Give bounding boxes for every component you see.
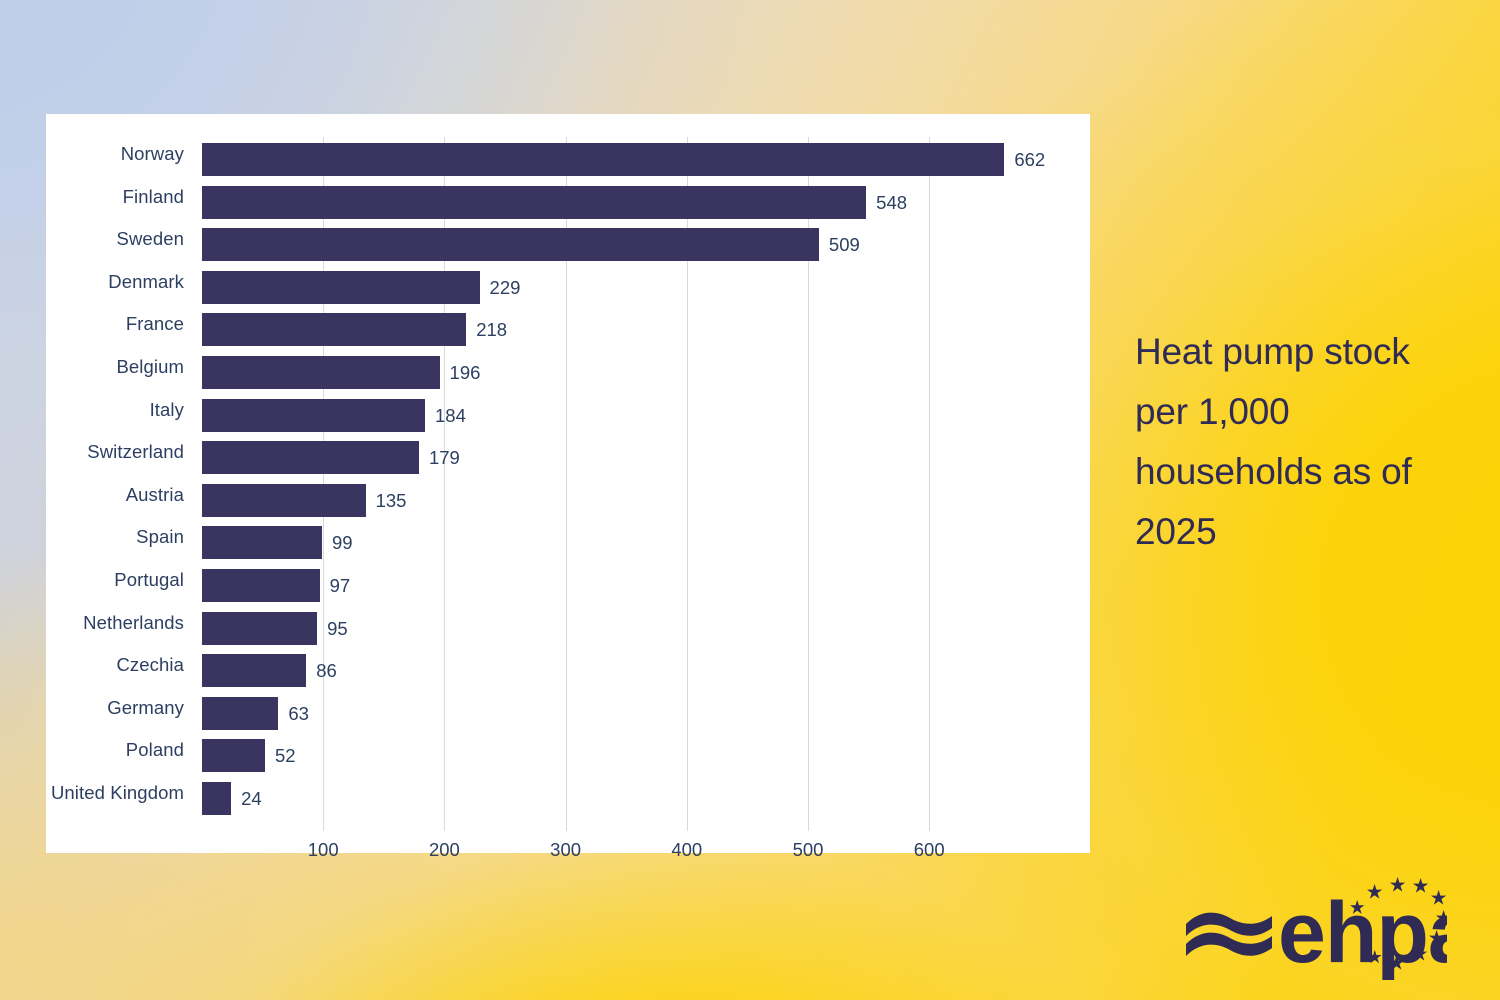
bar-row: Portugal97 — [202, 563, 1090, 606]
bar-row: Germany63 — [202, 691, 1090, 734]
bar-value-label: 95 — [327, 612, 348, 645]
x-tick-label: 600 — [914, 839, 945, 861]
bar-value-label: 97 — [330, 569, 351, 602]
bar-row: Italy184 — [202, 393, 1090, 436]
bar-value-label: 509 — [829, 228, 860, 261]
bar-row: France218 — [202, 307, 1090, 350]
bar[interactable] — [202, 143, 1004, 176]
category-label: Portugal — [114, 563, 184, 596]
bar[interactable] — [202, 356, 440, 389]
category-label: Belgium — [116, 350, 184, 383]
bar[interactable] — [202, 697, 278, 730]
bar[interactable] — [202, 739, 265, 772]
bar[interactable] — [202, 441, 419, 474]
bar[interactable] — [202, 569, 320, 602]
category-label: Finland — [123, 180, 184, 213]
bar[interactable] — [202, 186, 866, 219]
category-label: Sweden — [117, 222, 184, 255]
bar[interactable] — [202, 612, 317, 645]
category-label: Denmark — [108, 265, 184, 298]
category-label: Austria — [126, 478, 184, 511]
bar-row: Switzerland179 — [202, 435, 1090, 478]
category-label: France — [126, 307, 184, 340]
bar-row: Czechia86 — [202, 648, 1090, 691]
bar-value-label: 662 — [1014, 143, 1045, 176]
ehpa-logo: ehpa — [1182, 862, 1447, 984]
bar-value-label: 196 — [450, 356, 481, 389]
svg-text:ehpa: ehpa — [1278, 885, 1447, 981]
bar-row: Denmark229 — [202, 265, 1090, 308]
x-tick-label: 200 — [429, 839, 460, 861]
bar[interactable] — [202, 484, 366, 517]
page-title: Heat pump stock per 1,000 households as … — [1135, 322, 1465, 562]
bar-value-label: 218 — [476, 313, 507, 346]
bar-value-label: 86 — [316, 654, 337, 687]
bar-value-label: 63 — [288, 697, 309, 730]
bar-value-label: 184 — [435, 399, 466, 432]
bar-row: Spain99 — [202, 520, 1090, 563]
category-label: Czechia — [116, 648, 184, 681]
bar[interactable] — [202, 526, 322, 559]
bar[interactable] — [202, 313, 466, 346]
category-label: Italy — [150, 393, 184, 426]
bar-row: Poland52 — [202, 733, 1090, 776]
bar-value-label: 24 — [241, 782, 262, 815]
bar-value-label: 179 — [429, 441, 460, 474]
bar-row: Finland548 — [202, 180, 1090, 223]
bar-row: United Kingdom24 — [202, 776, 1090, 819]
bar-rows: Norway662Finland548Sweden509Denmark229Fr… — [202, 137, 1090, 819]
x-tick-label: 400 — [671, 839, 702, 861]
bar-row: Austria135 — [202, 478, 1090, 521]
category-label: United Kingdom — [51, 776, 184, 809]
bar-value-label: 52 — [275, 739, 296, 772]
x-tick-label: 300 — [550, 839, 581, 861]
category-label: Spain — [136, 520, 184, 553]
poster-background: Norway662Finland548Sweden509Denmark229Fr… — [0, 0, 1500, 1000]
chart-panel: Norway662Finland548Sweden509Denmark229Fr… — [46, 114, 1090, 853]
bar-row: Sweden509 — [202, 222, 1090, 265]
waves-icon — [1186, 913, 1272, 956]
bar-value-label: 548 — [876, 186, 907, 219]
x-tick-label: 100 — [308, 839, 339, 861]
category-label: Norway — [121, 137, 184, 170]
category-label: Germany — [107, 691, 184, 724]
bar[interactable] — [202, 399, 425, 432]
x-tick-label: 500 — [793, 839, 824, 861]
bar-value-label: 135 — [376, 484, 407, 517]
bar-value-label: 99 — [332, 526, 353, 559]
category-label: Netherlands — [83, 606, 184, 639]
bar[interactable] — [202, 271, 480, 304]
bar[interactable] — [202, 228, 819, 261]
category-label: Switzerland — [87, 435, 184, 468]
bar[interactable] — [202, 782, 231, 815]
plot-area: Norway662Finland548Sweden509Denmark229Fr… — [202, 137, 1090, 837]
bar-row: Belgium196 — [202, 350, 1090, 393]
category-label: Poland — [126, 733, 184, 766]
bar[interactable] — [202, 654, 306, 687]
bar-row: Netherlands95 — [202, 606, 1090, 649]
bar-value-label: 229 — [490, 271, 521, 304]
bar-row: Norway662 — [202, 137, 1090, 180]
